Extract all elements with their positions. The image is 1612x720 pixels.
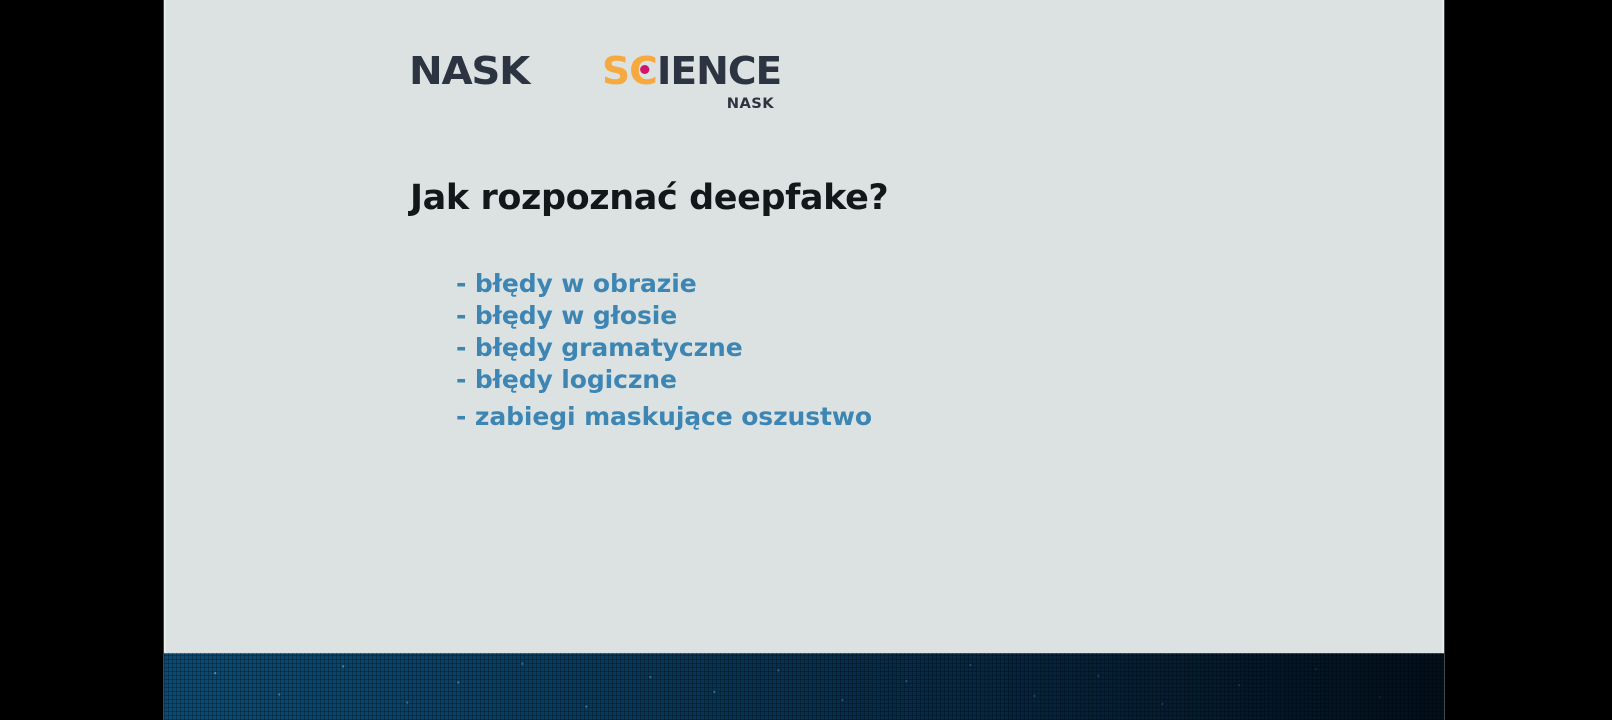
nask-logo: NASK	[409, 52, 529, 90]
science-wordmark: SC IENCE	[602, 52, 781, 90]
slide-left-edge-seam	[164, 0, 166, 720]
bullet-list: - błędy w obrazie - błędy w głosie - błę…	[456, 268, 872, 433]
list-item: - błędy w obrazie	[456, 268, 872, 300]
screen-letterbox: NASK SC IENCE NASK Jak rozpoznać deepfak…	[0, 0, 1612, 720]
slide-right-edge-seam	[1442, 0, 1444, 720]
footer-strip-speckle-texture	[164, 653, 1444, 720]
logo-row: NASK SC IENCE NASK	[409, 52, 776, 112]
science-logo-sc-text: SC	[602, 52, 657, 90]
slide-footer-strip	[164, 653, 1444, 720]
science-logo-subtext: NASK	[727, 96, 774, 112]
science-nask-logo: SC IENCE NASK	[602, 52, 776, 112]
list-item: - zabiegi maskujące oszustwo	[456, 401, 872, 433]
science-logo-ience-text: IENCE	[657, 52, 781, 90]
presentation-slide: NASK SC IENCE NASK Jak rozpoznać deepfak…	[164, 0, 1444, 720]
list-item: - błędy w głosie	[456, 300, 872, 332]
list-item: - błędy gramatyczne	[456, 332, 872, 364]
slide-title: Jak rozpoznać deepfake?	[410, 178, 888, 218]
list-item: - błędy logiczne	[456, 364, 872, 396]
